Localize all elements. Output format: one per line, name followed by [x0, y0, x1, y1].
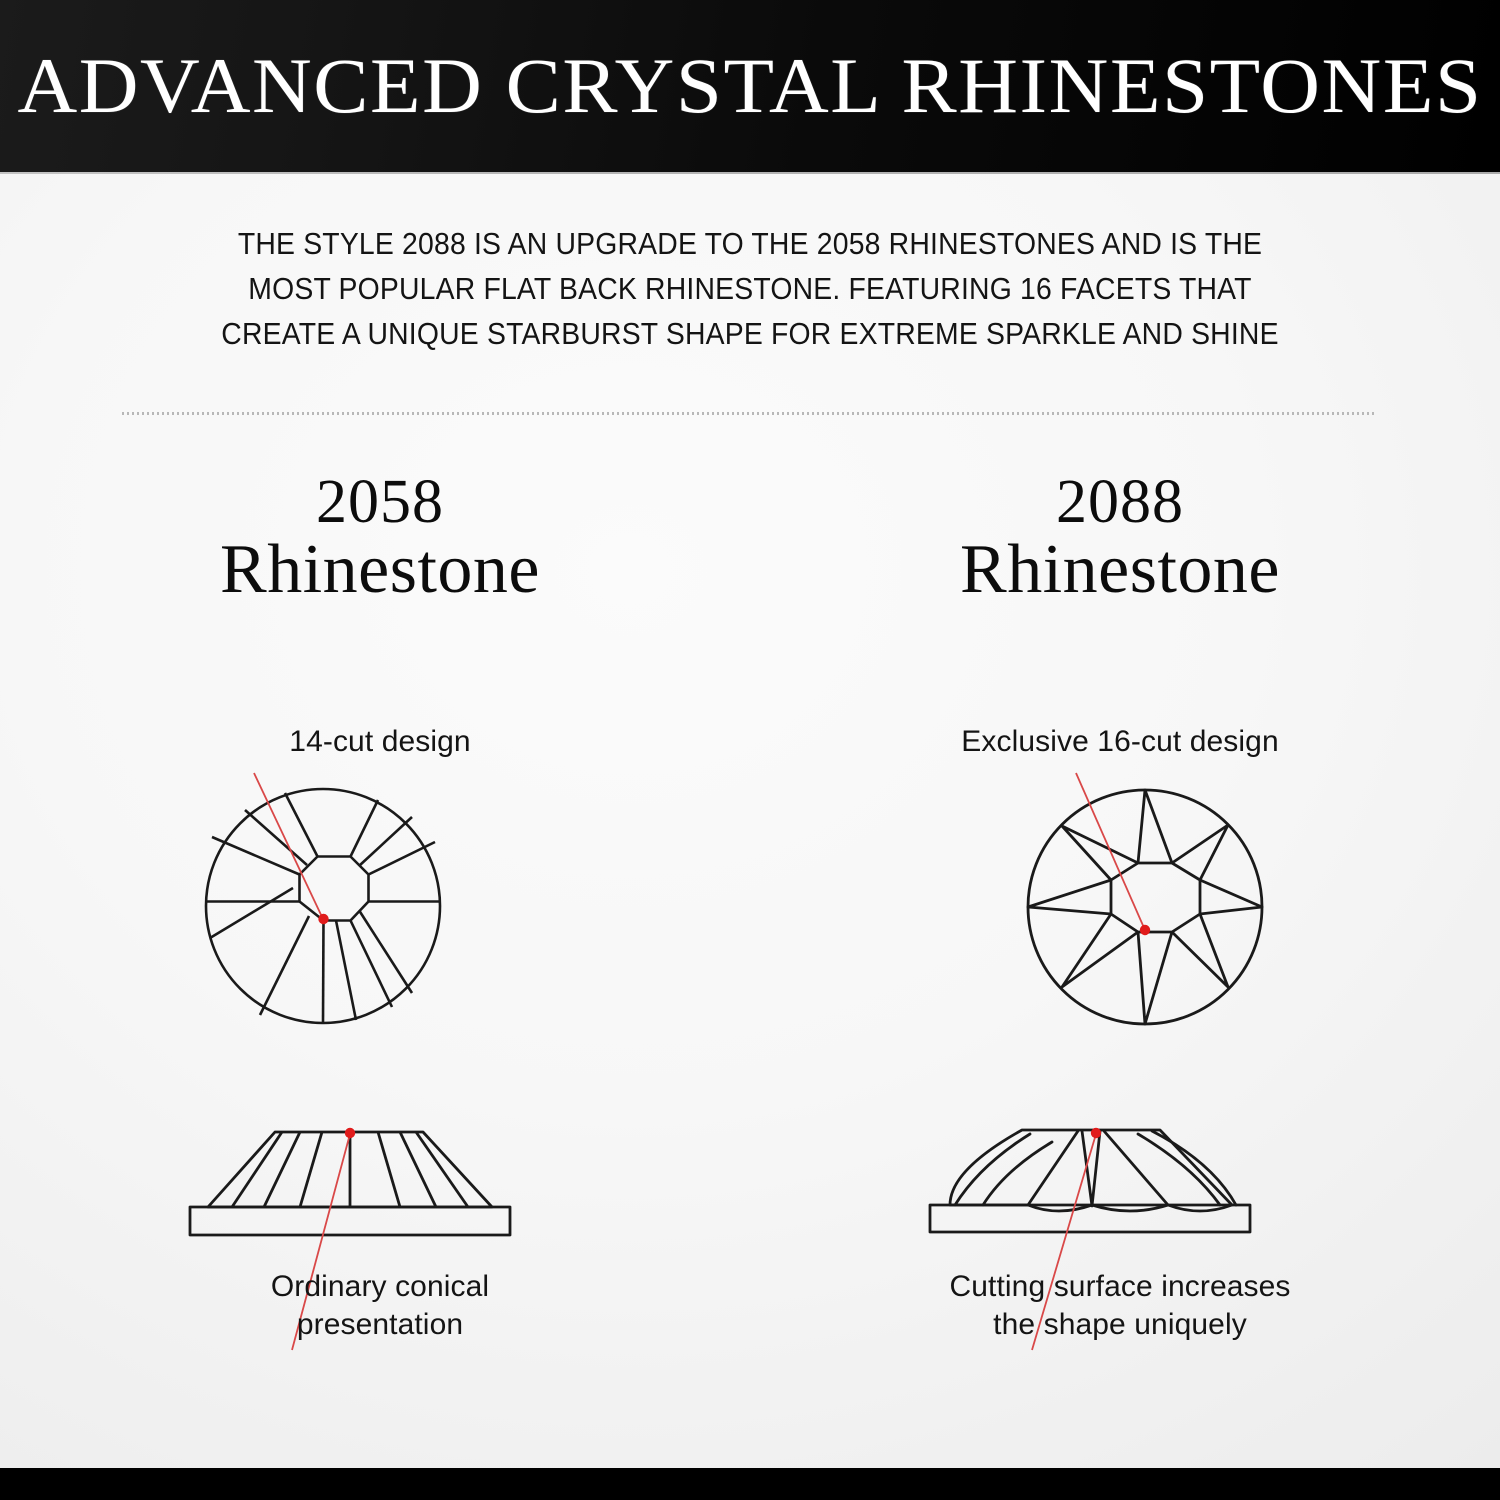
intro-paragraph: THE STYLE 2088 IS AN UPGRADE TO THE 2058… — [164, 222, 1336, 357]
header-bar: ADVANCED CRYSTAL RHINESTONES — [0, 0, 1500, 172]
heading-2058-word: Rhinestone — [60, 534, 700, 607]
diagram-2058-side-view: Ordinary conical presentation — [60, 1110, 700, 1290]
page-title: ADVANCED CRYSTAL RHINESTONES — [0, 47, 1500, 125]
svg-2058-side — [60, 1110, 700, 1290]
facet-lines-2058-top — [206, 789, 440, 1023]
intro-line-1: THE STYLE 2088 IS AN UPGRADE TO THE 2058… — [164, 222, 1336, 267]
heading-2058: 2058 Rhinestone — [60, 470, 700, 607]
infographic-page: ADVANCED CRYSTAL RHINESTONES THE STYLE 2… — [0, 0, 1500, 1500]
footer-bar — [0, 1468, 1500, 1500]
caption-2058-line-2: presentation — [60, 1306, 700, 1344]
rhinestone-2088-side-svg — [800, 1110, 1440, 1245]
svg-2088-top — [800, 725, 1440, 1055]
header-underline — [0, 172, 1500, 174]
caption-2088-side: Cutting surface increases the shape uniq… — [800, 1268, 1440, 1345]
caption-2058-line-1: Ordinary conical — [60, 1268, 700, 1306]
facet-lines-2058-side — [190, 1132, 510, 1235]
diagram-2058-top-view: 14-cut design — [60, 725, 700, 1055]
column-2058: 2058 Rhinestone 14-cut design — [60, 470, 700, 1400]
intro-line-3: CREATE A UNIQUE STARBURST SHAPE FOR EXTR… — [164, 312, 1336, 357]
heading-2088-word: Rhinestone — [800, 534, 1440, 607]
diagram-2088-top-view: Exclusive 16-cut design — [800, 725, 1440, 1055]
leader-dot-2088-side — [1091, 1128, 1101, 1138]
leader-dot-2088-top — [1140, 925, 1150, 935]
caption-2088-line-1: Cutting surface increases — [800, 1268, 1440, 1306]
heading-2088-number: 2088 — [800, 470, 1440, 534]
diagram-2088-side-view: Cutting surface increases the shape uniq… — [800, 1110, 1440, 1290]
inner-octagon-icon — [300, 857, 369, 921]
rhinestone-2058-side-svg — [60, 1110, 700, 1245]
caption-2058-side: Ordinary conical presentation — [60, 1268, 700, 1345]
facet-lines-2088-top — [1028, 790, 1262, 1024]
rhinestone-2088-top-svg — [800, 725, 1440, 1055]
svg-2058-top — [60, 725, 700, 1055]
inner-octagon-icon — [1111, 863, 1200, 932]
facet-lines-2088-side — [930, 1130, 1250, 1232]
rhinestone-2058-top-svg — [60, 725, 700, 1055]
base-slab-icon — [930, 1205, 1250, 1232]
column-2088: 2088 Rhinestone Exclusive 16-cut design — [800, 470, 1440, 1400]
leader-dot-2058-top — [318, 914, 328, 924]
caption-2088-line-2: the shape uniquely — [800, 1306, 1440, 1344]
svg-2088-side — [800, 1110, 1440, 1290]
heading-2088: 2088 Rhinestone — [800, 470, 1440, 607]
intro-line-2: MOST POPULAR FLAT BACK RHINESTONE. FEATU… — [164, 267, 1336, 312]
dotted-divider — [122, 412, 1376, 415]
heading-2058-number: 2058 — [60, 470, 700, 534]
base-slab-icon — [190, 1207, 510, 1235]
leader-dot-2058-side — [345, 1128, 355, 1138]
